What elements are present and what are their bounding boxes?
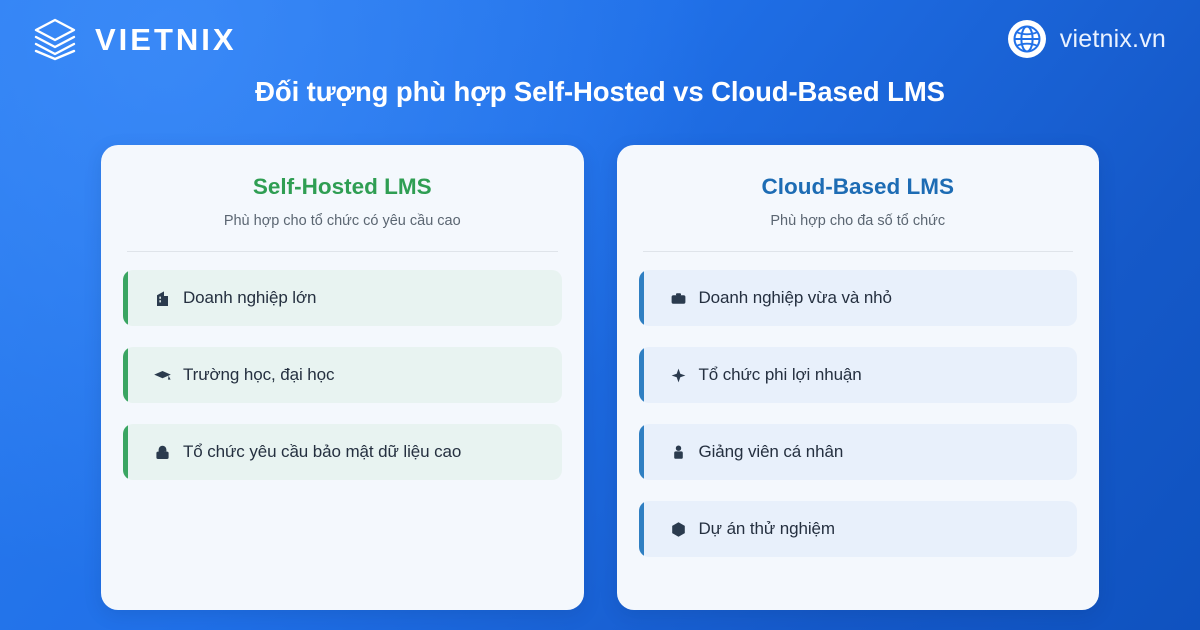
brand-logo[interactable]: VIETNIX <box>30 14 237 64</box>
stacked-layers-icon <box>30 14 80 64</box>
list-item-label: Trường học, đại học <box>183 365 334 385</box>
list-item[interactable]: Trường học, đại học <box>123 347 562 403</box>
card-cloud-based: Cloud-Based LMS Phù hợp cho đa số tổ chứ… <box>617 145 1100 610</box>
card-divider <box>643 251 1074 252</box>
list-item[interactable]: Giảng viên cá nhân <box>639 424 1078 480</box>
card-title: Self-Hosted LMS <box>123 173 562 201</box>
card-self-hosted: Self-Hosted LMS Phù hợp cho tổ chức có y… <box>101 145 584 610</box>
person-icon <box>669 443 688 462</box>
briefcase-icon <box>669 289 688 308</box>
card-subtitle: Phù hợp cho đa số tổ chức <box>639 213 1078 229</box>
globe-icon <box>1007 19 1047 59</box>
comparison-cards: Self-Hosted LMS Phù hợp cho tổ chức có y… <box>101 145 1099 610</box>
card-title: Cloud-Based LMS <box>639 173 1078 201</box>
list-item-label: Giảng viên cá nhân <box>699 442 844 462</box>
list-item-label: Doanh nghiệp vừa và nhỏ <box>699 288 892 308</box>
list-item[interactable]: Doanh nghiệp vừa và nhỏ <box>639 270 1078 326</box>
hexagon-icon <box>669 520 688 539</box>
graduation-cap-icon <box>153 366 172 385</box>
lock-icon <box>153 443 172 462</box>
card-item-list: Doanh nghiệp lớn Trường học, đại học <box>123 270 562 480</box>
list-item-label: Dự án thử nghiệm <box>699 519 835 539</box>
page-header: VIETNIX vietnix.vn <box>0 0 1200 78</box>
list-item[interactable]: Tổ chức phi lợi nhuận <box>639 347 1078 403</box>
list-item-label: Doanh nghiệp lớn <box>183 288 316 308</box>
page-title: Đối tượng phù hợp Self-Hosted vs Cloud-B… <box>0 76 1200 108</box>
list-item-label: Tổ chức phi lợi nhuận <box>699 365 862 385</box>
brand-name: VIETNIX <box>95 24 237 55</box>
list-item[interactable]: Dự án thử nghiệm <box>639 501 1078 557</box>
card-divider <box>127 251 558 252</box>
site-url-label: vietnix.vn <box>1060 25 1166 54</box>
list-item[interactable]: Tổ chức yêu cầu bảo mật dữ liệu cao <box>123 424 562 480</box>
building-icon <box>153 289 172 308</box>
list-item[interactable]: Doanh nghiệp lớn <box>123 270 562 326</box>
card-subtitle: Phù hợp cho tổ chức có yêu cầu cao <box>123 213 562 229</box>
site-url-badge[interactable]: vietnix.vn <box>1007 19 1166 59</box>
card-item-list: Doanh nghiệp vừa và nhỏ Tổ chức phi lợi … <box>639 270 1078 557</box>
list-item-label: Tổ chức yêu cầu bảo mật dữ liệu cao <box>183 442 461 462</box>
plus-cross-icon <box>669 366 688 385</box>
